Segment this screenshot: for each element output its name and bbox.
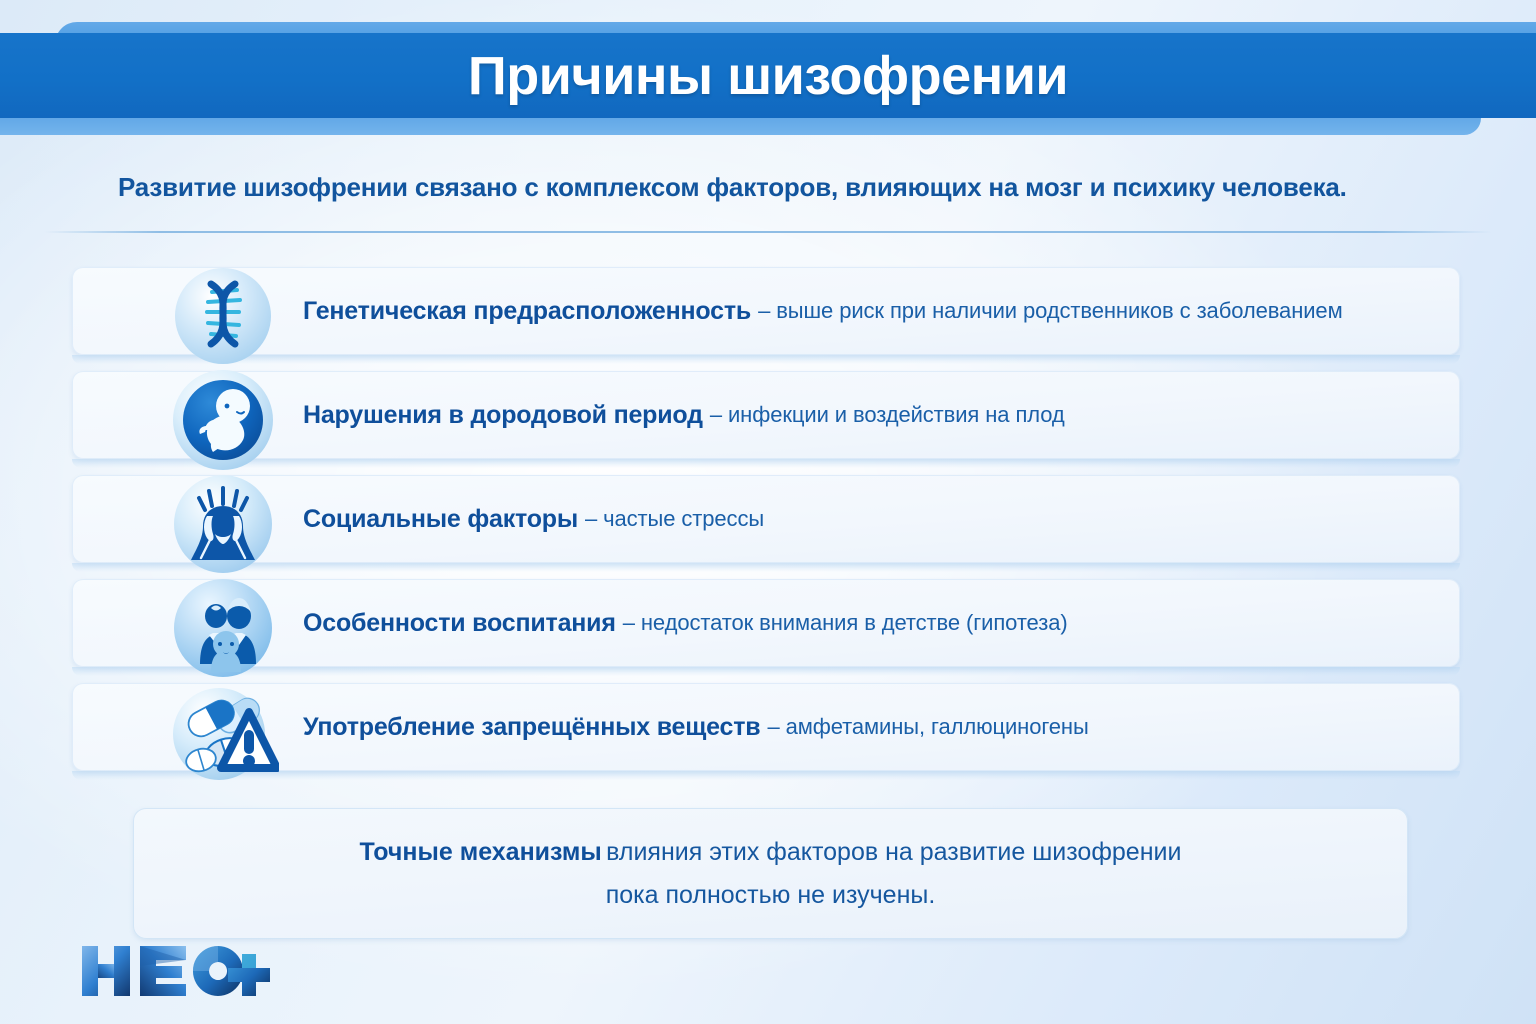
list-item: Генетическая предрасположенность – выше …: [0, 262, 1536, 366]
conclusion-note: Точные механизмы влияния этих факторов н…: [133, 808, 1408, 939]
banner-bottom-strip: [0, 118, 1481, 135]
factor-title: Нарушения в дородовой период: [303, 401, 703, 430]
list-item: Употребление запрещённых веществ – амфет…: [0, 678, 1536, 782]
note-line-1: Точные механизмы влияния этих факторов н…: [360, 838, 1182, 867]
factor-description: – амфетамины, галлюциногены: [767, 714, 1088, 740]
factor-title: Особенности воспитания: [303, 609, 616, 638]
factor-text: Социальные факторы – частые стрессы: [303, 470, 764, 568]
factor-text: Генетическая предрасположенность – выше …: [303, 262, 1343, 360]
neo-plus-logo: [78, 940, 278, 1002]
note-second-line-text: пока полностью не изучены.: [606, 881, 936, 909]
subtitle-text: Развитие шизофрении связано с комплексом…: [118, 172, 1448, 203]
factor-text: Употребление запрещённых веществ – амфет…: [303, 678, 1089, 776]
factor-title: Социальные факторы: [303, 505, 578, 534]
note-rest-text: влияния этих факторов на развитие шизофр…: [606, 838, 1181, 866]
factor-text: Нарушения в дородовой период – инфекции …: [303, 366, 1065, 464]
fetus-icon: [167, 364, 279, 476]
family-icon: [167, 572, 279, 684]
pills-warning-icon: [167, 676, 279, 788]
subtitle-divider: [44, 231, 1492, 233]
factor-description: – недостаток внимания в детстве (гипотез…: [623, 610, 1068, 636]
factor-list: Генетическая предрасположенность – выше …: [0, 262, 1536, 782]
list-item: Нарушения в дородовой период – инфекции …: [0, 366, 1536, 470]
factor-description: – инфекции и воздействия на плод: [710, 402, 1065, 428]
dna-helix-icon: [167, 260, 279, 372]
note-line-2: пока полностью не изучены.: [606, 881, 936, 910]
list-item: Особенности воспитания – недостаток вним…: [0, 574, 1536, 678]
page-title: Причины шизофрении: [0, 33, 1536, 118]
factor-description: – выше риск при наличии родственников с …: [758, 298, 1343, 324]
factor-title: Употребление запрещённых веществ: [303, 713, 760, 742]
stressed-person-icon: [167, 468, 279, 580]
list-item: Социальные факторы – частые стрессы: [0, 470, 1536, 574]
factor-card: [72, 475, 1460, 563]
factor-description: – частые стрессы: [585, 506, 764, 532]
factor-title: Генетическая предрасположенность: [303, 297, 751, 326]
infographic-poster: Причины шизофрении Развитие шизофрении с…: [0, 0, 1536, 1024]
note-strong-text: Точные механизмы: [360, 838, 602, 866]
factor-text: Особенности воспитания – недостаток вним…: [303, 574, 1068, 672]
header-banner: Причины шизофрении: [0, 0, 1536, 140]
